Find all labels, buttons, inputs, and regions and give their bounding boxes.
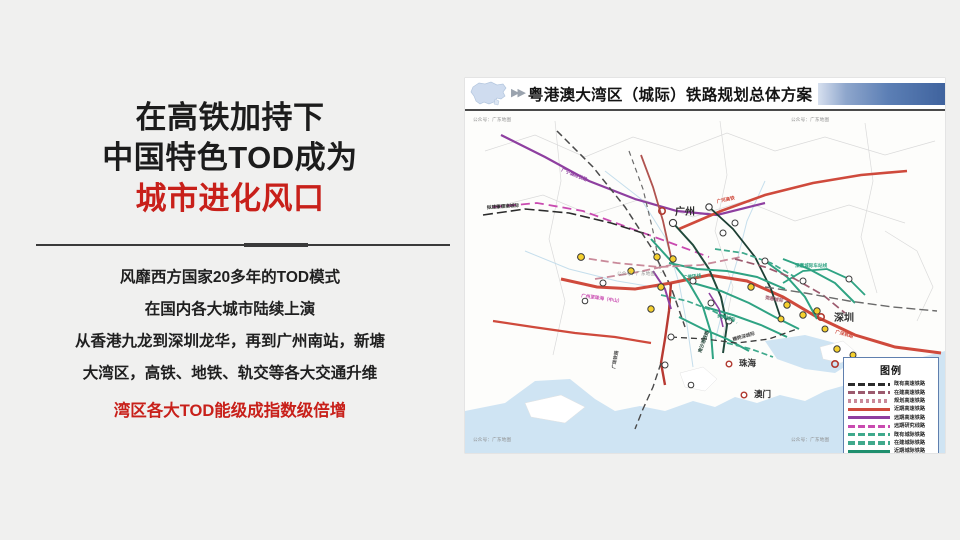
legend-label: 近期高速铁路 [894, 406, 941, 413]
legend-label: 近期城际铁路 [894, 448, 941, 453]
section-divider [36, 243, 450, 247]
map-panel: ▶▶ 粤港澳大湾区（城际）铁路规划总体方案 [465, 78, 945, 453]
watermark-mid: 公众号：广东地图 [617, 271, 655, 277]
watermark-top-right: 公众号：广东地图 [791, 117, 829, 123]
legend-label: 在建城际铁路 [894, 439, 941, 446]
body-line-1: 风靡西方国家20多年的TOD模式 [10, 262, 450, 294]
body-line-3: 从香港九龙到深圳龙华，再到广州南站，新塘 [10, 326, 450, 358]
title-gradient-bar [818, 83, 945, 105]
legend-line-swatch [848, 399, 890, 402]
headline-line-2: 中国特色TOD成为 [0, 138, 460, 178]
body-highlight: 湾区各大TOD能级成指数级倍增 [10, 398, 450, 424]
legend-label: 既有城际铁路 [894, 431, 941, 438]
body-line-2: 在国内各大城市陆续上演 [10, 294, 450, 326]
legend-title: 图例 [848, 362, 934, 377]
page-title: 在高铁加持下 中国特色TOD成为 城市进化风口 [0, 98, 460, 219]
watermark-bottom-left: 公众号：广东地图 [473, 437, 511, 443]
headline-line-3-highlight: 城市进化风口 [0, 179, 460, 219]
legend-row: 既有高速铁路 [848, 380, 934, 388]
watermark-bottom-right: 公众号：广东地图 [791, 437, 829, 443]
body-line-4: 大湾区，高铁、地铁、轨交等各大交通升维 [10, 358, 450, 390]
chevron-right-icon: ▶▶ [511, 88, 524, 99]
body-copy: 风靡西方国家20多年的TOD模式 在国内各大城市陆续上演 从香港九龙到深圳龙华，… [10, 262, 450, 425]
left-text-column: 在高铁加持下 中国特色TOD成为 城市进化风口 风靡西方国家20多年的TOD模式… [0, 0, 460, 540]
legend-line-swatch [848, 383, 890, 386]
legend-rows: 既有高速铁路在建高速铁路规划高速铁路近期高速铁路远期高速铁路远期研究线路既有城际… [848, 380, 934, 453]
legend-row: 既有城际铁路 [848, 430, 934, 438]
legend-label: 在建高速铁路 [894, 389, 941, 396]
legend-row: 近期高速铁路 [848, 405, 934, 413]
legend-line-swatch [848, 391, 890, 394]
watermark-top-left: 公众号：广东地图 [473, 117, 511, 123]
legend-line-swatch [848, 408, 890, 411]
map-title: 粤港澳大湾区（城际）铁路规划总体方案 [528, 83, 812, 105]
headline-line-1: 在高铁加持下 [0, 98, 460, 138]
china-outline-icon [465, 79, 511, 109]
legend-label: 既有高速铁路 [894, 381, 941, 388]
legend-row: 远期高速铁路 [848, 414, 934, 422]
svg-text:深惠城际车站线: 深惠城际车站线 [795, 262, 828, 269]
legend-row: 在建高速铁路 [848, 388, 934, 396]
legend-line-swatch [848, 425, 890, 428]
legend-row: 规划高速铁路 [848, 397, 934, 405]
legend-row: 在建城际铁路 [848, 439, 934, 447]
legend-line-swatch [848, 433, 890, 436]
legend-line-swatch [848, 441, 890, 444]
legend-row: 近期城际铁路 [848, 447, 934, 453]
divider-accent-block [244, 243, 308, 247]
legend-label: 规划高速铁路 [894, 397, 941, 404]
legend-label: 远期研究线路 [894, 423, 941, 430]
map-canvas[interactable]: 广宁城际铁路 拟建肇顺南城际 广河高铁 广州至珠海（中山） 广佛环线 深惠城际车… [465, 111, 945, 453]
divider-thin-rule [36, 244, 450, 246]
map-title-bar: ▶▶ 粤港澳大湾区（城际）铁路规划总体方案 [465, 78, 945, 111]
legend-line-swatch [848, 416, 890, 419]
legend-line-swatch [848, 450, 890, 453]
legend-row: 远期研究线路 [848, 422, 934, 430]
legend-label: 远期高速铁路 [894, 414, 941, 421]
map-legend: 图例 既有高速铁路在建高速铁路规划高速铁路近期高速铁路远期高速铁路远期研究线路既… [843, 357, 939, 453]
